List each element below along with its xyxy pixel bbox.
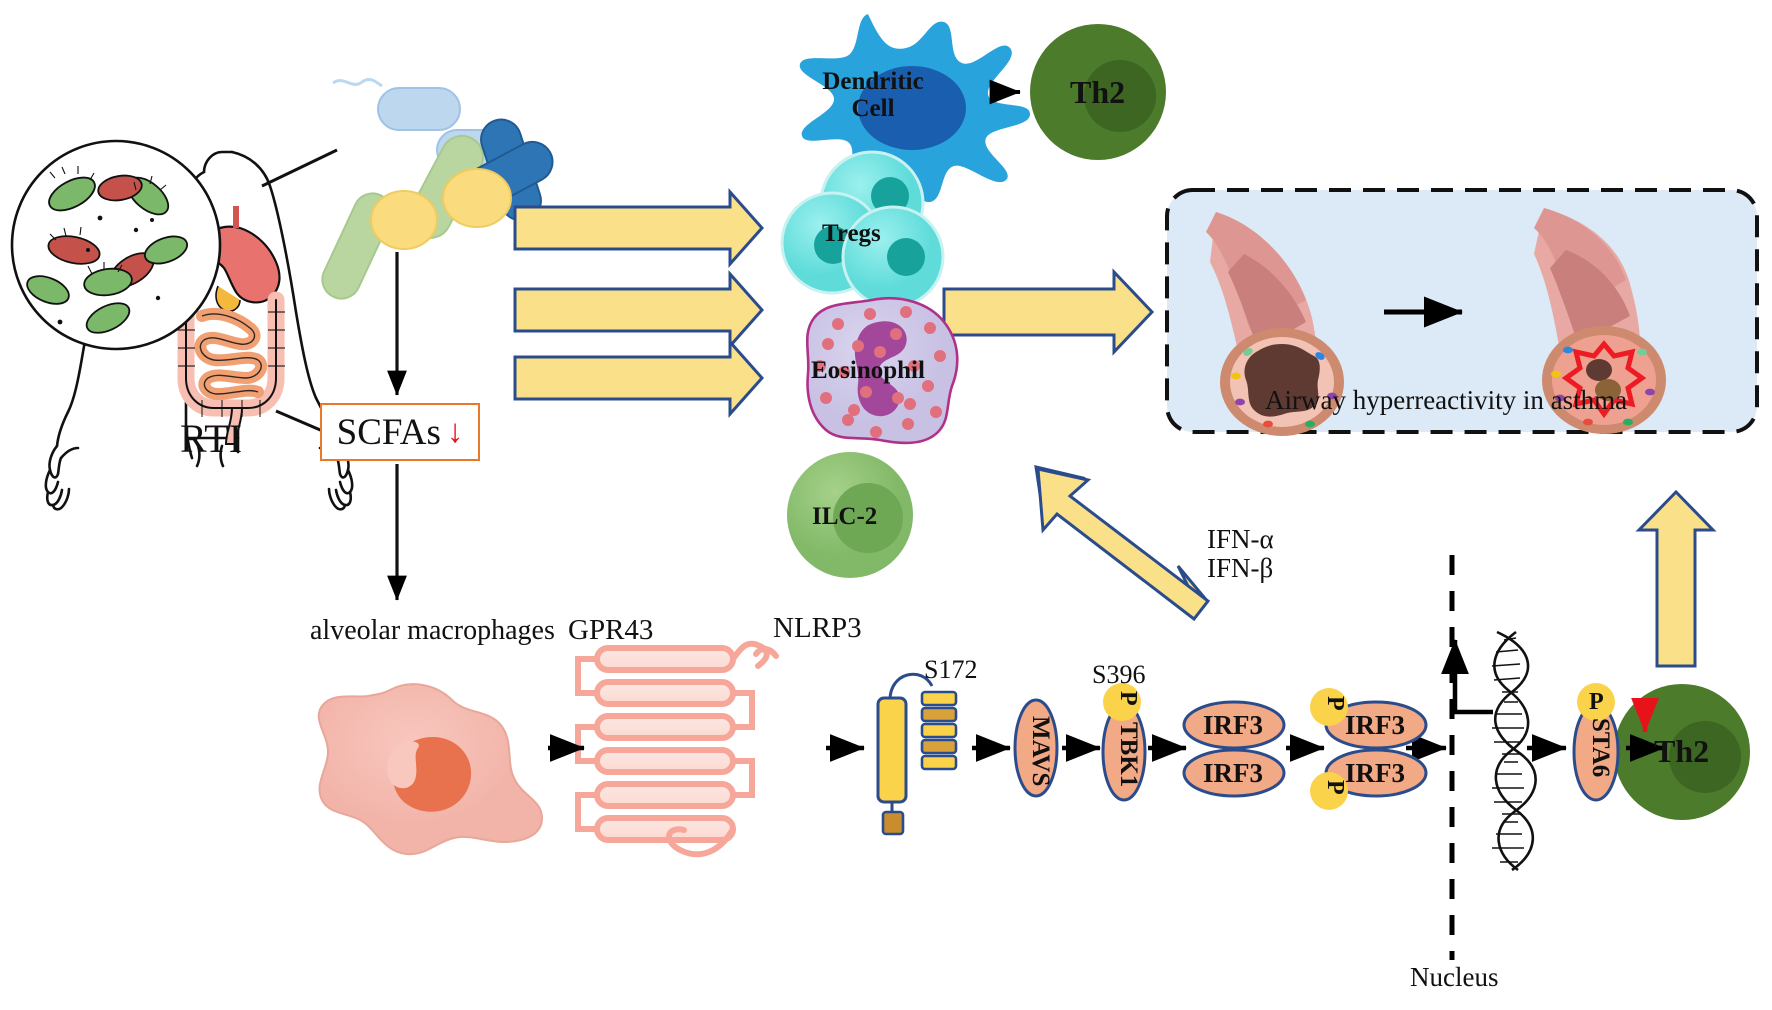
nucleus-label: Nucleus <box>1410 962 1498 993</box>
phospho-badge-stat6: P <box>1589 689 1604 716</box>
block-arrow-to-eosinophil-upper <box>515 274 762 346</box>
tbk1-label: TBK1 <box>1114 722 1142 787</box>
dna-helix-icon <box>1492 632 1536 870</box>
irf3-label-a: IRF3 <box>1203 710 1263 741</box>
irf3-label-d: IRF3 <box>1345 758 1405 789</box>
ilc2-label: ILC-2 <box>812 503 877 531</box>
gpr43-receptor-icon <box>578 644 767 855</box>
phospho-badge-tbk1: P <box>1114 691 1141 706</box>
th2-bottom-label: Th2 <box>1654 733 1709 770</box>
ifn-alpha-label: IFN-α <box>1207 524 1274 555</box>
nlrp3-label: NLRP3 <box>773 612 862 645</box>
block-arrow-cells-to-asthma <box>944 272 1152 352</box>
scfas-label: SCFAs <box>337 411 441 454</box>
microbiota-magnifier-icon <box>12 141 220 349</box>
asthma-caption: Airway hyperreactivity in asthma <box>1265 385 1627 416</box>
nlrp3-icon <box>878 674 956 834</box>
block-arrow-pathway-to-cells <box>1036 467 1208 619</box>
connector-line-body-to-scfa <box>276 411 325 432</box>
phospho-badge-irf3-c: P <box>1321 696 1348 711</box>
block-arrow-to-tregs <box>515 192 762 264</box>
scfas-box: SCFAs ↓ <box>320 403 480 461</box>
mavs-label: MAVS <box>1026 716 1054 786</box>
diagram-artwork <box>0 0 1772 1010</box>
tregs-label: Tregs <box>822 220 881 248</box>
alveolar-macrophage-icon <box>319 684 542 854</box>
ifn-beta-label: IFN-β <box>1207 553 1273 584</box>
scfas-down-arrow: ↓ <box>447 414 464 451</box>
phospho-badge-irf3-d: P <box>1321 780 1348 795</box>
eosinophil-label: Eosinophil <box>811 357 925 385</box>
alveolar-macrophages-label: alveolar macrophages <box>310 615 555 647</box>
s396-label: S396 <box>1092 660 1145 690</box>
irf3-label-b: IRF3 <box>1203 758 1263 789</box>
arrow-ifn-output <box>1455 640 1493 712</box>
diagram-canvas: RTI SCFAs ↓ alveolar macrophages GPR43 N… <box>0 0 1772 1010</box>
th2-top-label: Th2 <box>1070 74 1125 111</box>
stat6-label: STA6 <box>1586 718 1614 777</box>
gpr43-label: GPR43 <box>568 614 653 647</box>
connector-line-body-to-bacteria <box>262 150 337 186</box>
block-arrow-th2-to-asthma <box>1639 492 1713 666</box>
rti-label: RTI <box>180 415 242 462</box>
dendritic-cell-label: DendriticCell <box>818 68 928 122</box>
block-arrow-to-eosinophil-lower <box>515 342 762 414</box>
irf3-label-c: IRF3 <box>1345 710 1405 741</box>
s172-label: S172 <box>924 655 977 685</box>
bacteria-cluster-icon <box>316 79 559 304</box>
